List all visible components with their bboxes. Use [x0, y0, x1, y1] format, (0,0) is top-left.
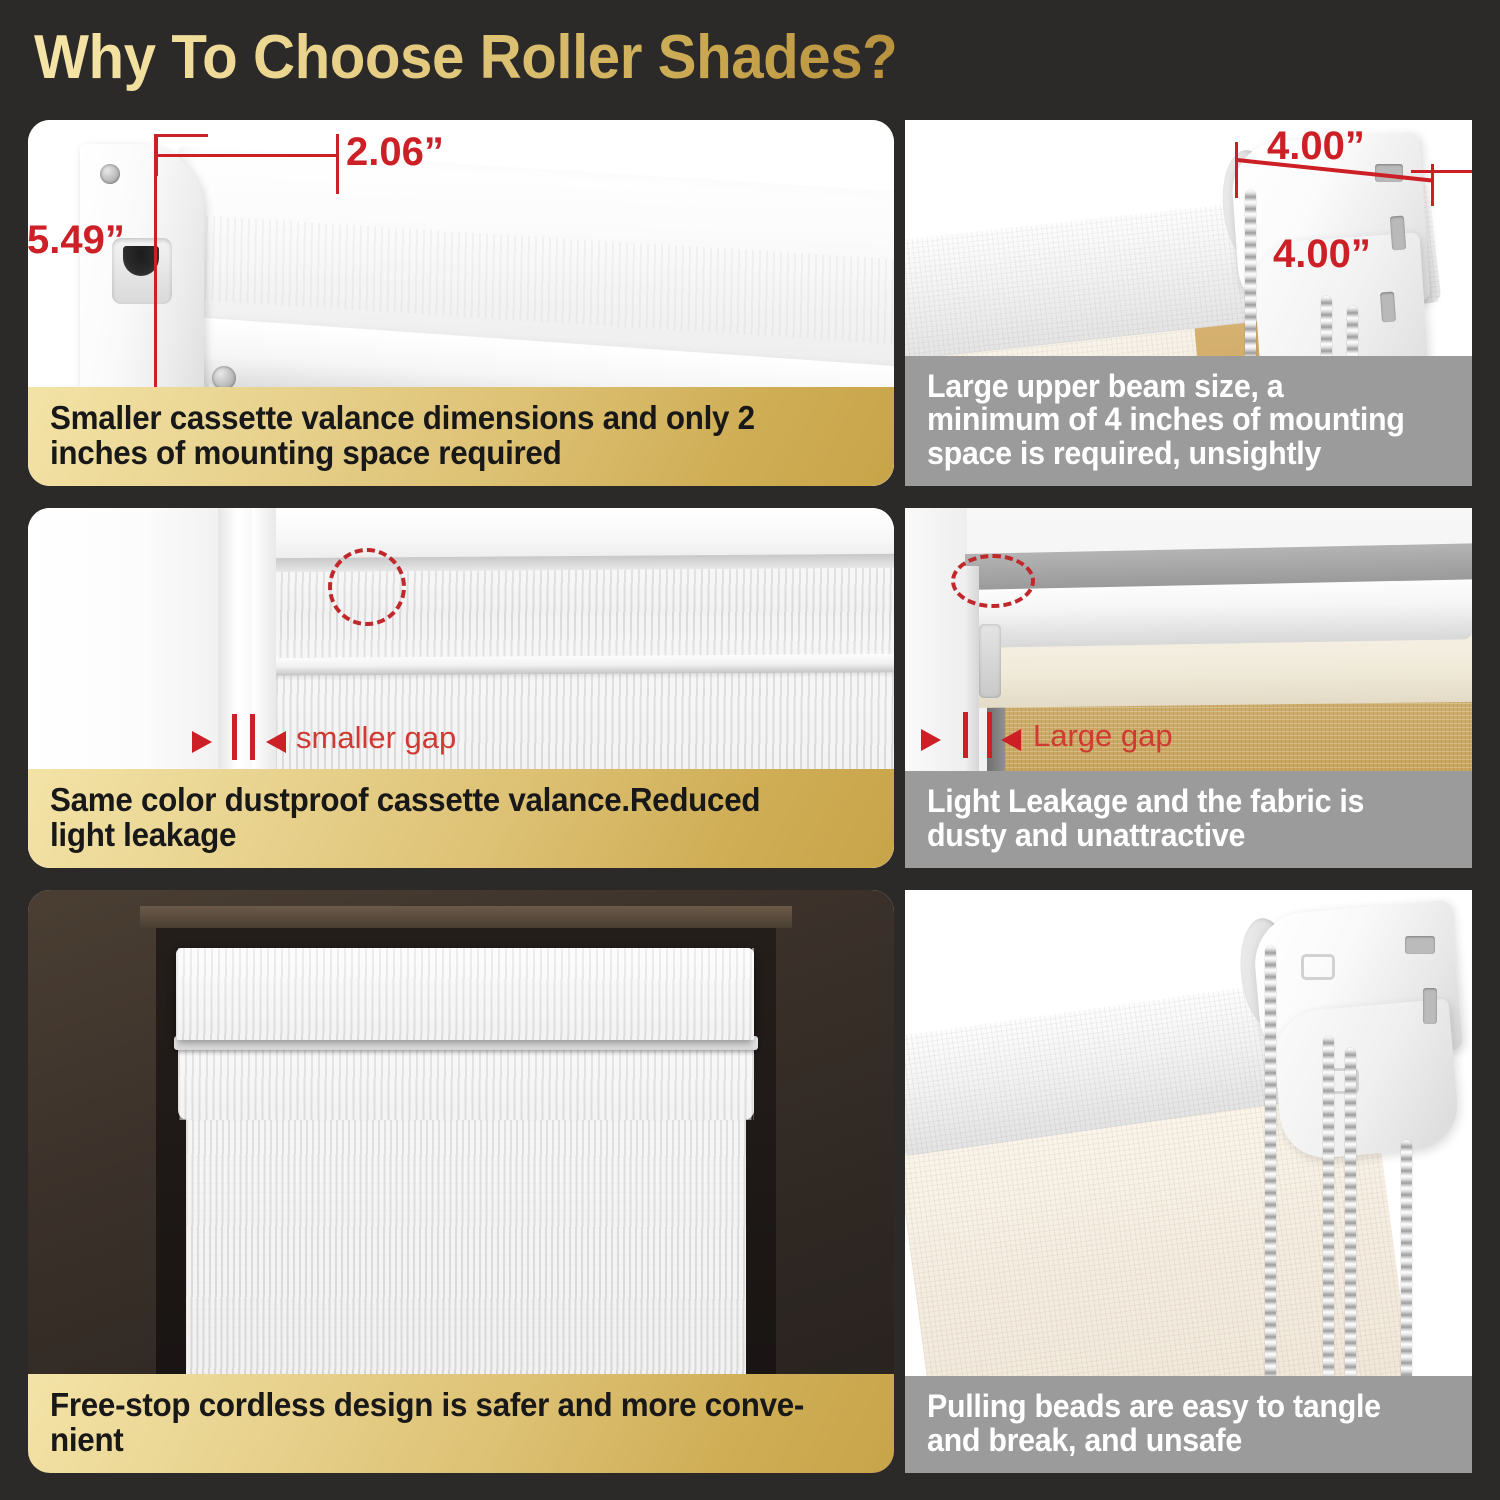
- panel-3-caption-line-1: Same color dustproof cassette valance.Re…: [50, 783, 833, 817]
- gap-label-large: Large gap: [1033, 718, 1173, 754]
- bracket-notch-2: [1390, 216, 1406, 251]
- dimension-label-height: 5.49”: [28, 218, 125, 263]
- bracket-emblem-upper: [1301, 954, 1335, 980]
- panel-2-caption-line-2: minimum of 4 inches of mounting: [927, 403, 1426, 436]
- gap-arrow-left: [192, 731, 212, 753]
- panel-4-caption-line-2: dusty and unattractive: [927, 819, 1426, 852]
- panel-1-caption-line-2: inches of mounting space required: [50, 436, 833, 470]
- window-casing: [140, 906, 792, 928]
- gap-arrow-left: [921, 729, 941, 751]
- gap-arrow-right: [1001, 729, 1021, 751]
- gap-label-smaller: smaller gap: [296, 720, 456, 756]
- panel-6-caption: Pulling beads are easy to tangle and bre…: [905, 1376, 1472, 1473]
- end-bracket-clip: [979, 624, 1001, 698]
- detail-highlight-circle: [328, 548, 406, 626]
- rolled-fabric: [178, 1048, 754, 1120]
- panel-5-caption-line-2: nient: [50, 1423, 833, 1457]
- bracket-notch-1: [1405, 936, 1435, 954]
- dimension-label-height: 4.00”: [1273, 232, 1371, 277]
- panel-1-caption: Smaller cassette valance dimensions and …: [28, 387, 894, 486]
- panel-4-caption: Light Leakage and the fabric is dusty an…: [905, 771, 1472, 868]
- panel-3-caption-line-2: light leakage: [50, 818, 833, 852]
- panel-3-caption: Same color dustproof cassette valance.Re…: [28, 769, 894, 868]
- panel-2-caption-line-1: Large upper beam size, a: [927, 370, 1426, 403]
- panel-4-large-gap: Large gap Light Leakage and the fabric i…: [905, 508, 1472, 868]
- panel-4-caption-line-1: Light Leakage and the fabric is: [927, 785, 1426, 818]
- cassette-valance: [176, 948, 754, 1040]
- panel-5-caption: Free-stop cordless design is safer and m…: [28, 1374, 894, 1473]
- panel-5-caption-line-1: Free-stop cordless design is safer and m…: [50, 1388, 833, 1422]
- gap-arrow-right: [266, 731, 286, 753]
- panel-2-large-beam: 4.00” 4.00” Large upper beam size, a min…: [905, 120, 1472, 486]
- panel-5-cordless-design: Free-stop cordless design is safer and m…: [28, 890, 894, 1473]
- panel-6-caption-line-2: and break, and unsafe: [927, 1424, 1426, 1457]
- panel-1-smaller-cassette: 2.06” 5.49” Smaller cassette valance dim…: [28, 120, 894, 486]
- panel-6-pulling-beads: Pulling beads are easy to tangle and bre…: [905, 890, 1472, 1473]
- panel-2-caption: Large upper beam size, a minimum of 4 in…: [905, 356, 1472, 486]
- panel-2-caption-line-3: space is required, unsightly: [927, 437, 1426, 470]
- bracket-notch-2: [1423, 988, 1437, 1024]
- infographic-page: Why To Choose Roller Shades? 2.06” 5.49”: [0, 0, 1500, 1500]
- panel-1-caption-line-1: Smaller cassette valance dimensions and …: [50, 401, 833, 435]
- dimension-label-width: 4.00”: [1267, 124, 1365, 169]
- dimension-label-width: 2.06”: [346, 130, 444, 175]
- detail-highlight-circle: [951, 554, 1035, 608]
- screw-top: [100, 164, 120, 184]
- bracket-notch-3: [1380, 292, 1396, 323]
- panel-6-caption-line-1: Pulling beads are easy to tangle: [927, 1390, 1426, 1423]
- page-title: Why To Choose Roller Shades?: [34, 22, 897, 93]
- window-header: [218, 508, 894, 560]
- panel-3-smaller-gap: smaller gap Same color dustproof cassett…: [28, 508, 894, 868]
